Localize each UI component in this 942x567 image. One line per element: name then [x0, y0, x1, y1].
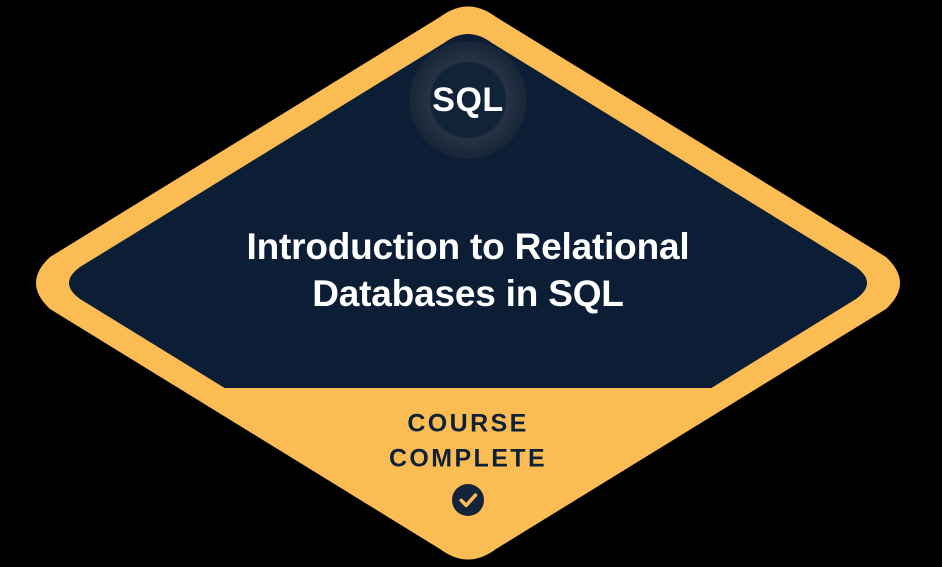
- course-completion-badge: SQL Introduction to Relational Databases…: [0, 0, 942, 567]
- status-line-2: COMPLETE: [389, 445, 547, 473]
- sql-logo-label: SQL: [432, 81, 503, 119]
- course-title-line-2: Databases in SQL: [312, 273, 623, 314]
- badge-graphic: SQL Introduction to Relational Databases…: [0, 0, 942, 567]
- check-circle-background: [452, 484, 484, 516]
- status-line-1: COURSE: [407, 410, 528, 438]
- check-circle-icon: [452, 484, 484, 516]
- sql-logo-ring: SQL: [409, 41, 527, 159]
- course-title-line-1: Introduction to Relational: [247, 226, 690, 267]
